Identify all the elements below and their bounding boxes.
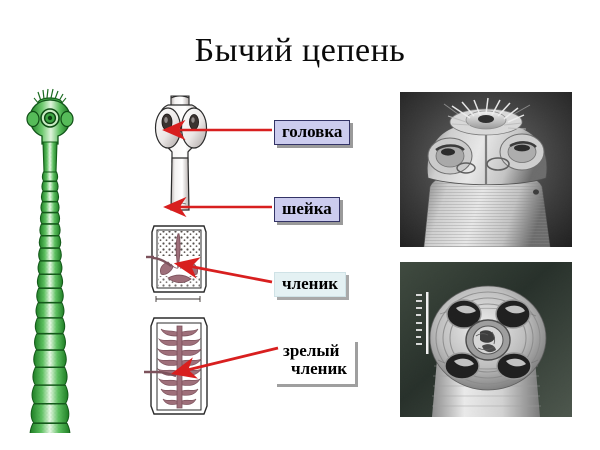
page-title: Бычий цепень [0,32,600,70]
label-zrelyj-chlenik[interactable]: зрелый членик [274,339,355,384]
label-sheyka[interactable]: шейка [274,197,340,222]
photo-scolex-sem-frontal [400,262,572,417]
label-zrelyj-chlenik-line1: зрелый [283,341,339,360]
green-tapeworm-whole-body: {} [18,88,82,433]
label-zrelyj-chlenik-line2: членик [283,360,347,378]
label-golovka[interactable]: головка [274,120,350,145]
lineart-diagram-column [138,92,222,422]
photo-scolex-sem-lateral [400,92,572,247]
slide-canvas: Бычий цепень [0,0,600,450]
label-chlenik[interactable]: членик [274,272,346,297]
